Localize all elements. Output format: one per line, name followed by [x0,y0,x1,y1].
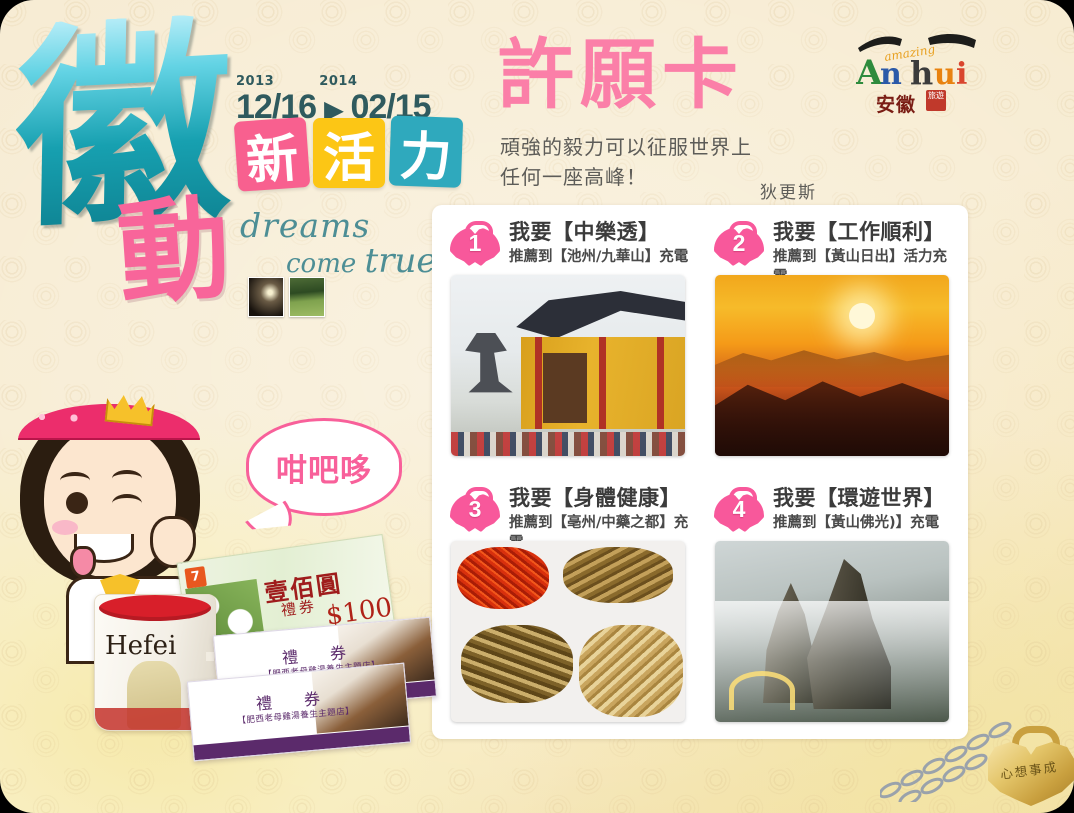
herb-pile-4 [579,625,683,717]
mascot-eye-wink [112,494,142,513]
heart-padlock-group: 心想事成 [880,700,1074,813]
wish-card-1-text: 我要【中樂透】 推薦到【池州/九華山】充電 [509,217,688,267]
buddha-light-halo [729,671,795,710]
wish-card-2-wish: 我要【工作順利】 [773,219,955,245]
tagline: dreams come true [240,206,436,281]
wish-card-1-number: 1 [450,230,500,257]
screenshot-stage: 徽 徽 動 2013 2014 12/16 ▶ 02/15 新 活 力 drea… [0,0,1074,813]
anhui-wordmark-icon: A n h u i [856,52,988,92]
wish-card-1-recommend: 推薦到【池州/九華山】充電 [509,247,688,267]
ridge-far [715,341,949,387]
wish-cards-panel: 1 我要【中樂透】 推薦到【池州/九華山】充電 [432,205,968,739]
heart-lock-icon: 4 [714,487,764,532]
wish-card-4-header: 4 我要【環遊世界】 推薦到【黃山佛光)】充電 [710,483,955,541]
heart-lock-icon: 3 [450,487,500,532]
campaign-year-start: 2013 [236,74,274,89]
wish-card-2-number: 2 [714,230,764,257]
logo-chinese-name: 安徽 [876,90,916,117]
page-title: 許願卡 [498,36,744,114]
slogan-tile-1: 新 [234,117,311,192]
wish-card-4-number: 4 [714,496,764,523]
wish-card-4-recommend: 推薦到【黃山佛光)】充電 [773,513,945,533]
wish-card-3-number: 3 [450,496,500,523]
wish-card-3[interactable]: 3 我要【身體健康】 推薦到【亳州/中藥之都】充電 [446,483,691,722]
voucher-footer-bar [194,726,410,760]
huangshan-photo[interactable] [715,541,949,722]
svg-text:n: n [880,57,902,92]
quote-line-2: 任何一座高峰！ [500,162,752,192]
slogan-tile-3: 力 [389,115,463,187]
wish-card-2[interactable]: 2 我要【工作順利】 推薦到【黃山日出】活力充電 [710,217,955,456]
mascot-eyebrow-left [60,472,90,489]
tagline-come: come [286,249,356,279]
quote-line-1: 頑強的毅力可以征服世界上 [500,132,752,162]
mascot-eyebrow-right [112,470,142,487]
voucher-label-chinese: 禮券 [280,595,319,621]
svg-text:A: A [856,53,883,92]
temple-column-3 [657,337,664,429]
wish-card-4-wish: 我要【環遊世界】 [773,485,945,511]
sunrise-photo[interactable] [715,275,949,456]
herb-pile-3 [461,625,573,703]
prize-items: 7 壹佰圓 禮券 $100 Hefei 禮 券 【肥西老母雞湯養生主題店】 [78,548,438,784]
wish-card-3-header: 3 我要【身體健康】 推薦到【亳州/中藥之都】充電 [446,483,691,541]
temple-column-1 [535,337,542,429]
slogan-tile-2: 活 [313,118,385,188]
speech-bubble-text: 咁吧哆 [249,445,399,490]
temple-column-2 [599,337,606,429]
herb-pile-2 [563,547,673,603]
herbs-photo[interactable] [451,541,685,722]
wish-card-1[interactable]: 1 我要【中樂透】 推薦到【池州/九華山】充電 [446,217,691,456]
thumbnail-image-1[interactable] [248,277,284,317]
tagline-true: true [365,241,437,281]
quote-text: 頑強的毅力可以征服世界上 任何一座高峰！ [500,132,752,192]
speech-bubble: 咁吧哆 [246,418,402,516]
wish-card-2-header: 2 我要【工作順利】 推薦到【黃山日出】活力充電 [710,217,955,275]
seven-eleven-logo-icon: 7 [184,566,207,589]
wish-card-1-wish: 我要【中樂透】 [509,219,688,245]
mascot-cheek-blush [52,520,78,535]
brand-dong-character: 動 [114,192,234,312]
logo-seal-icon: 旅遊 [926,90,946,111]
heart-padlock-icon: 心想事成 [988,726,1074,806]
page-frame: 徽 徽 動 2013 2014 12/16 ▶ 02/15 新 活 力 drea… [0,0,1074,813]
wish-card-4[interactable]: 4 我要【環遊世界】 推薦到【黃山佛光)】充電 [710,483,955,722]
svg-text:h: h [910,54,933,92]
tagline-line-2: come true [286,241,436,281]
anhui-logo[interactable]: amazing A n h u i 安徽 旅遊 [852,30,992,116]
mascot-eye-open [66,492,88,514]
sun-shape [849,303,875,329]
campaign-year-end: 2014 [319,74,357,89]
saffron-pile [457,547,549,609]
heart-lock-icon: 1 [450,221,500,266]
wish-card-4-text: 我要【環遊世界】 推薦到【黃山佛光)】充電 [773,483,945,533]
campaign-slogan-tiles: 新 活 力 [235,116,462,190]
temple-doorway [543,353,587,423]
temple-crowd [451,432,685,456]
thumbnail-strip [248,277,325,317]
pagoda-shape [457,333,515,443]
svg-text:i: i [956,57,967,92]
wish-card-1-header: 1 我要【中樂透】 推薦到【池州/九華山】充電 [446,217,691,275]
quote-author: 狄更斯 [760,178,817,203]
tagline-line-1: dreams [240,206,436,245]
thumbnail-image-2[interactable] [289,277,325,317]
wish-card-3-wish: 我要【身體健康】 [509,485,691,511]
heart-lock-icon: 2 [714,221,764,266]
svg-text:u: u [934,57,956,92]
temple-photo[interactable] [451,275,685,456]
